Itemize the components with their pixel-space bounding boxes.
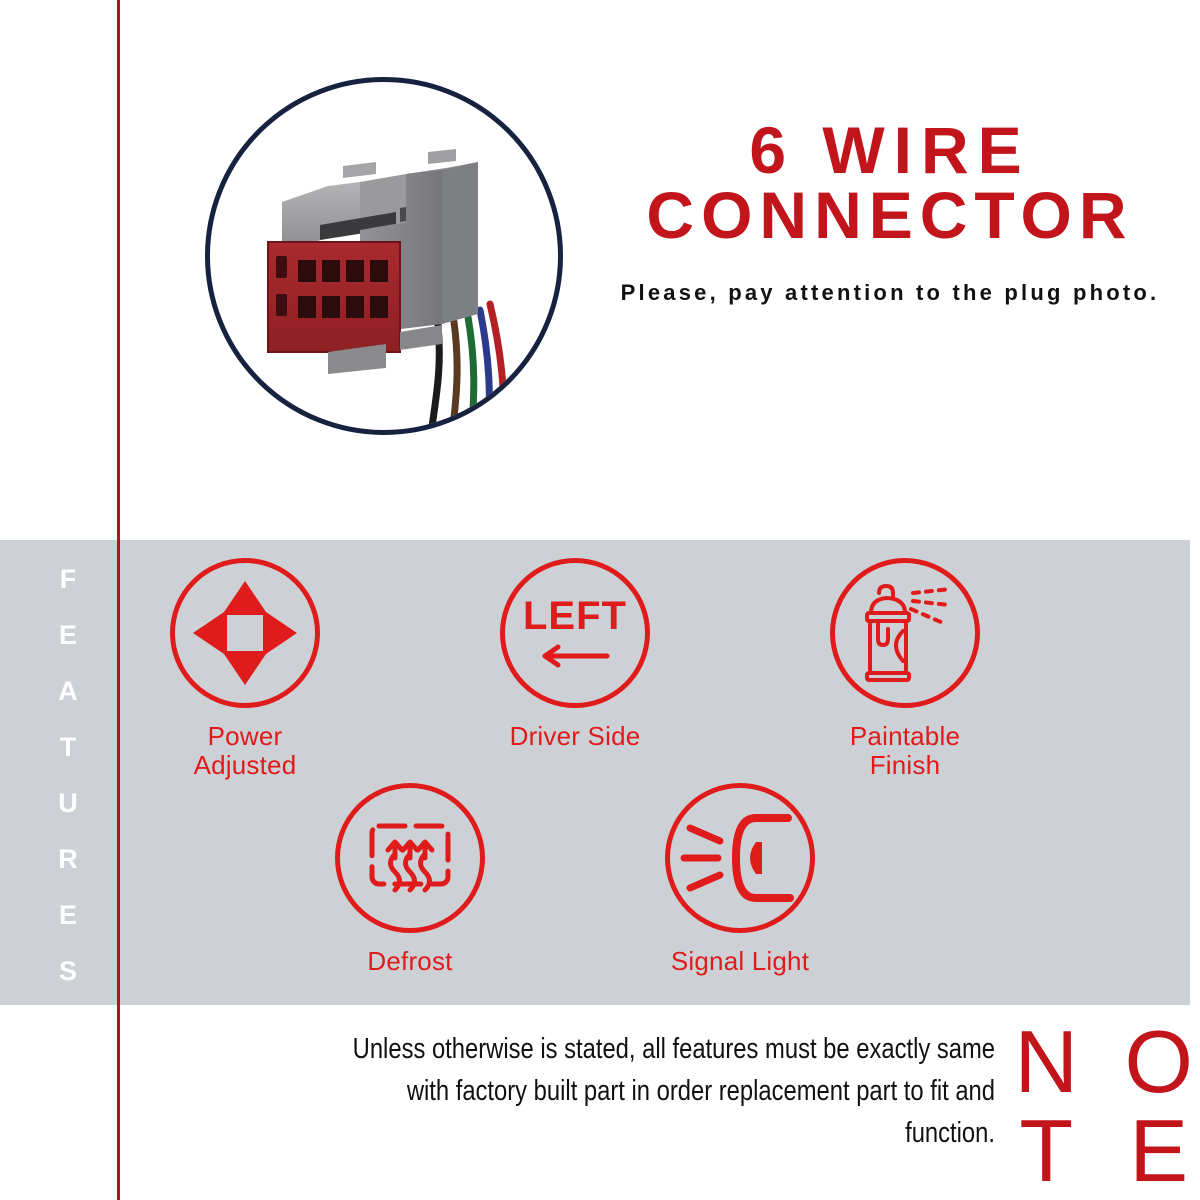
feature-label-line1: Signal Light	[625, 947, 855, 976]
plug-illustration	[210, 82, 558, 430]
header-section: 6 WIRE CONNECTOR Please, pay attention t…	[0, 0, 1200, 540]
features-letter: U	[58, 790, 78, 817]
feature-label: Power Adjusted	[130, 722, 360, 780]
feature-signal-light: Signal Light	[625, 783, 855, 976]
spray-can-icon	[835, 563, 975, 703]
feature-label-line2: Adjusted	[130, 751, 360, 780]
features-letter: E	[59, 902, 77, 929]
feature-label: Driver Side	[460, 722, 690, 751]
feature-label: Defrost	[295, 947, 525, 976]
note-letter-n: N	[995, 1022, 1098, 1103]
feature-power-adjusted: Power Adjusted	[130, 558, 360, 780]
driver-side-icon: LEFT	[500, 558, 650, 708]
features-grid: Power Adjusted LEFT Driver Side	[130, 548, 1190, 1003]
left-arrow-icon: LEFT	[505, 563, 645, 703]
features-letter: S	[59, 958, 77, 985]
feature-label: Signal Light	[625, 947, 855, 976]
features-letter: T	[60, 734, 77, 761]
feature-label-line1: Driver Side	[460, 722, 690, 751]
power-adjusted-icon	[170, 558, 320, 708]
signal-light-icon	[665, 783, 815, 933]
headlight-icon	[670, 788, 810, 928]
feature-label-line1: Paintable	[790, 722, 1020, 751]
page-title-line2: CONNECTOR	[600, 183, 1180, 248]
plug-image	[210, 82, 558, 430]
rear-defrost-icon	[340, 788, 480, 928]
feature-label: Paintable Finish	[790, 722, 1020, 780]
paintable-finish-icon	[830, 558, 980, 708]
page-title-line1: 6 WIRE	[600, 118, 1180, 183]
features-letter: F	[60, 566, 77, 593]
title-block: 6 WIRE CONNECTOR Please, pay attention t…	[600, 118, 1180, 309]
connector-photo	[205, 77, 563, 435]
infographic-canvas: 6 WIRE CONNECTOR Please, pay attention t…	[0, 0, 1200, 1200]
feature-label-line2: Finish	[790, 751, 1020, 780]
features-letter: A	[58, 678, 78, 705]
note-word: N O T E	[995, 1022, 1200, 1192]
feature-label-line1: Defrost	[295, 947, 525, 976]
directional-pad-icon	[175, 563, 315, 703]
note-letter-o: O	[1108, 1022, 1200, 1103]
features-section-label: F E A T U R E S	[48, 566, 88, 1014]
feature-label-line1: Power	[130, 722, 360, 751]
disclaimer-text: Unless otherwise is stated, all features…	[339, 1028, 995, 1154]
feature-driver-side: LEFT Driver Side	[460, 558, 690, 751]
svg-text:LEFT: LEFT	[523, 594, 627, 638]
features-letter: R	[58, 846, 78, 873]
features-letter: E	[59, 622, 77, 649]
feature-defrost: Defrost	[295, 783, 525, 976]
defrost-icon	[335, 783, 485, 933]
note-letter-t: T	[995, 1111, 1098, 1192]
vertical-accent-rule	[117, 0, 120, 1200]
page-subtitle: Please, pay attention to the plug photo.	[600, 277, 1180, 309]
feature-paintable-finish: Paintable Finish	[790, 558, 1020, 780]
note-letter-e: E	[1108, 1111, 1200, 1192]
